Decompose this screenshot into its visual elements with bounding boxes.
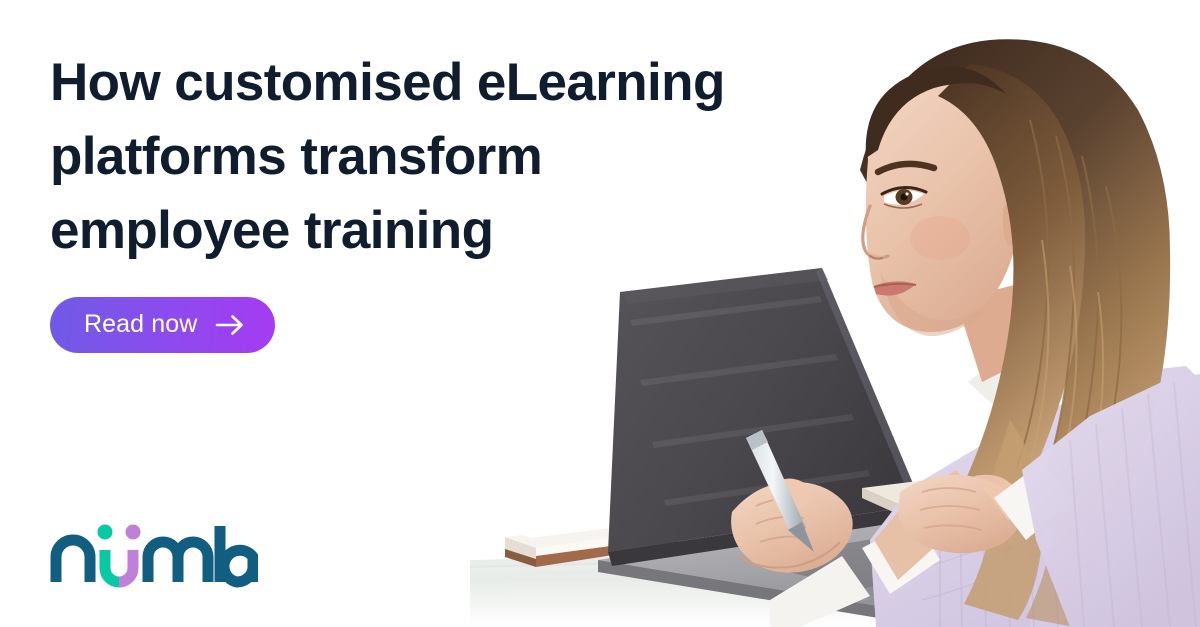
read-now-button[interactable]: Read now xyxy=(50,297,275,353)
cta-wrapper: Read now xyxy=(50,297,275,353)
headline-block: How customised eLearning platforms trans… xyxy=(50,46,810,268)
promo-banner: How customised eLearning platforms trans… xyxy=(0,0,1200,627)
read-now-label: Read now xyxy=(84,312,197,337)
numla-logo[interactable] xyxy=(48,516,258,593)
arrow-right-icon xyxy=(215,314,245,336)
page-title: How customised eLearning platforms trans… xyxy=(50,46,810,268)
logo-dot-right xyxy=(126,525,141,540)
logo-dot-left xyxy=(98,525,113,540)
